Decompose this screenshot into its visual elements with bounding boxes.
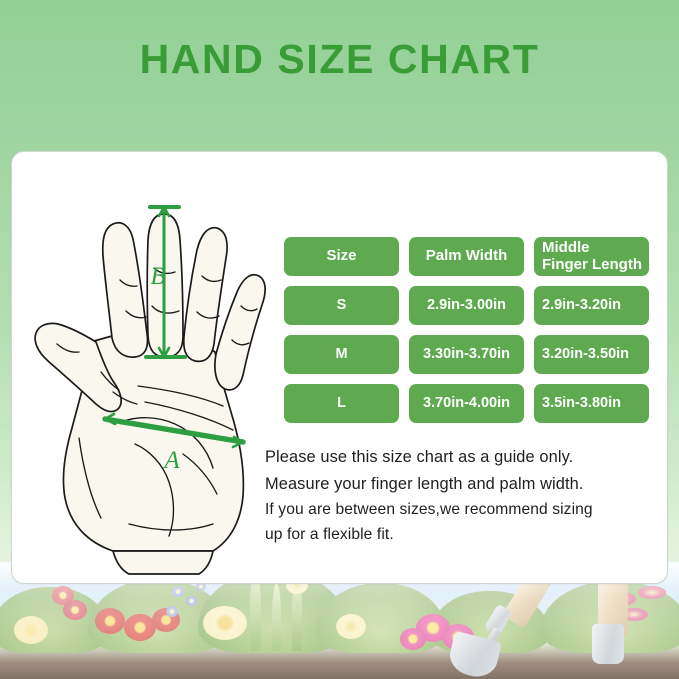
table-header-row: Size Palm Width Middle Finger Length [284, 237, 659, 276]
table-row: S 2.9in-3.00in 2.9in-3.20in [284, 286, 659, 325]
cell-palm-width: 3.30in-3.70in [409, 335, 524, 374]
page-title: HAND SIZE CHART [0, 36, 679, 83]
header-size: Size [284, 237, 399, 276]
note-line-2: Measure your finger length and palm widt… [265, 471, 665, 498]
hand-measurement-diagram: B A [17, 176, 271, 576]
header-middle-finger-length-line1: Middle [542, 240, 642, 257]
cell-middle-finger-length: 3.20in-3.50in [534, 335, 649, 374]
header-middle-finger-length-line2: Finger Length [542, 257, 642, 274]
table-row: L 3.70in-4.00in 3.5in-3.80in [284, 384, 659, 423]
palm-width-label: A [162, 447, 180, 474]
size-chart-card: B A Size Palm Width Middle Finger Length [11, 151, 668, 584]
note-line-3: If you are between sizes,we recommend si… [265, 497, 665, 522]
finger-length-label: B [150, 263, 165, 290]
cell-palm-width: 2.9in-3.00in [409, 286, 524, 325]
header-middle-finger-length: Middle Finger Length [534, 237, 649, 276]
note-line-4: up for a flexible fit. [265, 522, 665, 547]
cell-middle-finger-length: 2.9in-3.20in [534, 286, 649, 325]
cell-size: M [284, 335, 399, 374]
note-line-1: Please use this size chart as a guide on… [265, 444, 665, 471]
cell-palm-width: 3.70in-4.00in [409, 384, 524, 423]
cell-size: S [284, 286, 399, 325]
table-row: M 3.30in-3.70in 3.20in-3.50in [284, 335, 659, 374]
header-palm-width: Palm Width [409, 237, 524, 276]
cell-middle-finger-length: 3.5in-3.80in [534, 384, 649, 423]
size-table: Size Palm Width Middle Finger Length S 2… [284, 237, 659, 433]
size-guide-notes: Please use this size chart as a guide on… [265, 444, 665, 548]
cell-size: L [284, 384, 399, 423]
